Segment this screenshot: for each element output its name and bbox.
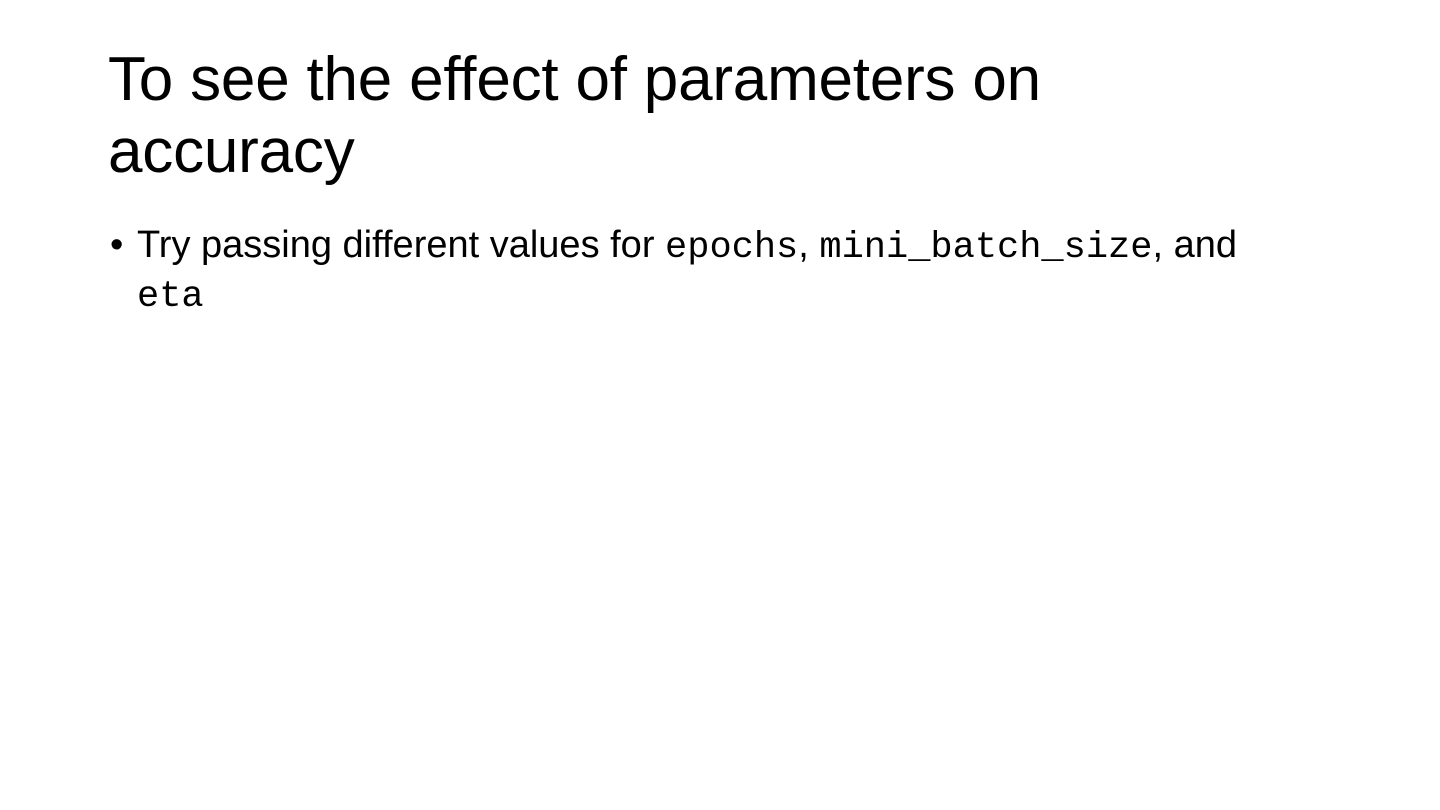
list-item-text: Try passing different values for epochs,…	[137, 222, 1308, 320]
code-token-mini-batch-size: mini_batch_size	[819, 227, 1152, 269]
list-item[interactable]: • Try passing different values for epoch…	[108, 222, 1308, 320]
bullet-list: • Try passing different values for epoch…	[108, 222, 1308, 320]
body-text-segment: , and	[1152, 224, 1237, 266]
bullet-point-icon: •	[110, 222, 132, 268]
page-title: To see the effect of parameters on accur…	[108, 44, 1168, 188]
code-token-epochs: epochs	[665, 227, 798, 269]
slide-canvas: To see the effect of parameters on accur…	[0, 0, 1440, 810]
body-placeholder[interactable]: • Try passing different values for epoch…	[108, 222, 1308, 320]
title-placeholder[interactable]: To see the effect of parameters on accur…	[108, 44, 1168, 188]
body-text-segment: ,	[798, 224, 819, 266]
body-text-segment: Try passing different values for	[137, 224, 665, 266]
code-token-eta: eta	[137, 276, 204, 318]
